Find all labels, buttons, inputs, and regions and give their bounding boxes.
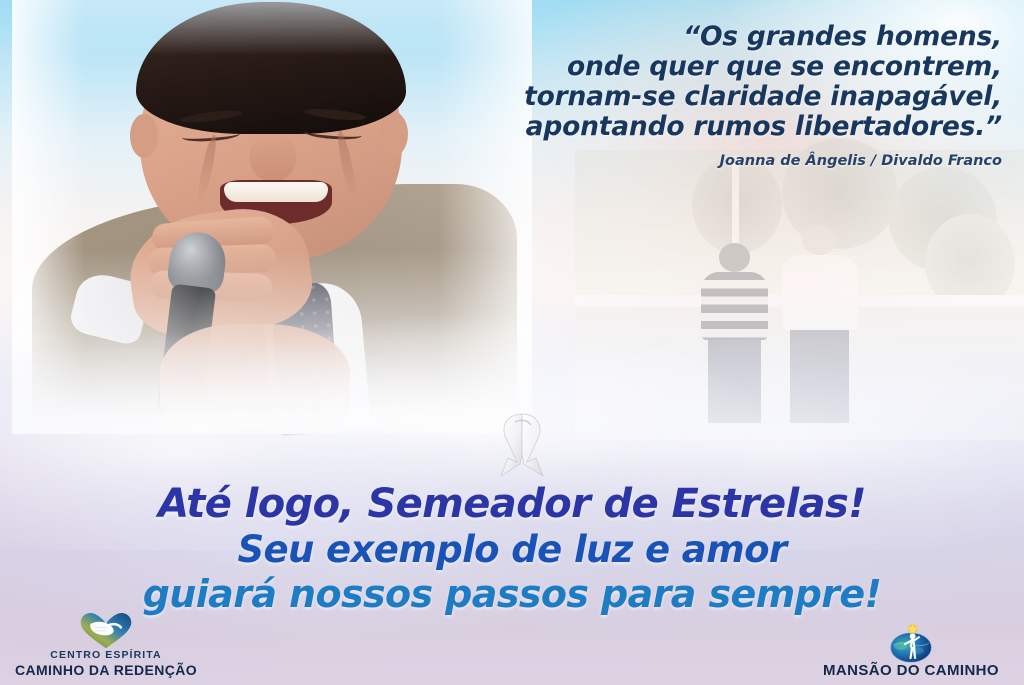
quote-line-2: onde quer que se encontrem, <box>382 52 1002 82</box>
headline-line-2: Seu exemplo de luz e amor <box>0 531 1024 568</box>
quote-block: “Os grandes homens, onde quer que se enc… <box>382 22 1002 169</box>
quote-line-1: “Os grandes homens, <box>382 22 1002 52</box>
globe-figure-star-logo-icon <box>806 624 1016 662</box>
white-awareness-ribbon-icon <box>487 408 557 482</box>
logo-right-line-2: MANSÃO DO CAMINHO <box>806 662 1016 679</box>
quote-line-4: apontando rumos libertadores.” <box>382 112 1002 142</box>
logo-centro-espirita: CENTRO ESPÍRITA CAMINHO DA REDENÇÃO <box>8 611 204 679</box>
logo-mansao-do-caminho: MANSÃO DO CAMINHO <box>806 624 1016 679</box>
quote-line-3: tornam-se claridade inapagável, <box>382 82 1002 112</box>
memorial-poster: “Os grandes homens, onde quer que se enc… <box>0 0 1024 685</box>
headline-block: Até logo, Semeador de Estrelas! Seu exem… <box>0 484 1024 613</box>
photo-figure-head <box>802 225 837 255</box>
headline-line-1: Até logo, Semeador de Estrelas! <box>0 484 1024 524</box>
heart-hands-logo-icon <box>8 611 204 649</box>
headline-line-3: guiará nossos passos para sempre! <box>0 575 1024 613</box>
photo-figure-head <box>719 243 750 272</box>
logo-left-line-2: CAMINHO DA REDENÇÃO <box>8 662 204 679</box>
quote-attribution: Joanna de Ângelis / Divaldo Franco <box>382 153 1002 169</box>
logo-left-line-1: CENTRO ESPÍRITA <box>8 649 204 662</box>
